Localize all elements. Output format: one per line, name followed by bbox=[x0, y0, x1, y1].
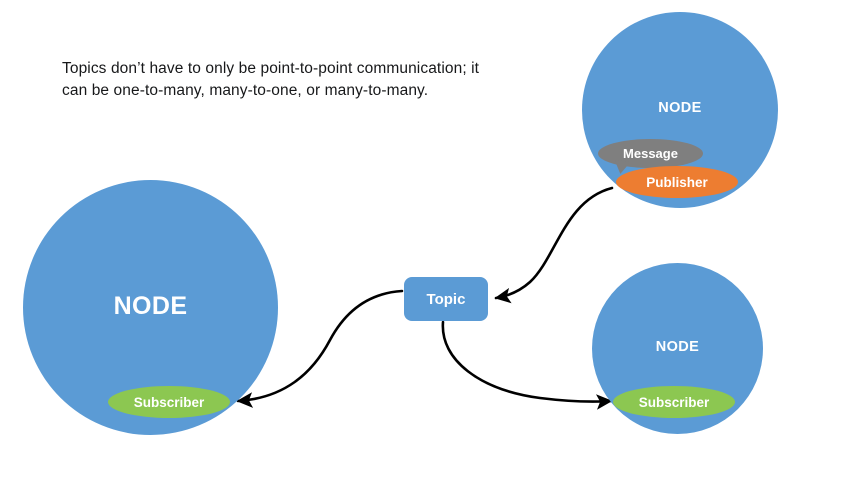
subscriber-right-label: Subscriber bbox=[639, 395, 710, 410]
arrow-publisher-to-topic bbox=[496, 188, 612, 298]
topic-label: Topic bbox=[427, 291, 466, 308]
arrow-topic-to-right-subscriber bbox=[443, 322, 611, 402]
node-top-right-label: NODE bbox=[582, 100, 778, 116]
subscriber-left-label: Subscriber bbox=[134, 395, 205, 410]
node-bottom-right-label: NODE bbox=[592, 339, 763, 355]
subscriber-right[interactable]: Subscriber bbox=[613, 386, 735, 418]
slide-canvas: Topics don’t have to only be point-to-po… bbox=[0, 0, 854, 480]
message-label: Message bbox=[623, 146, 678, 161]
caption-text: Topics don’t have to only be point-to-po… bbox=[62, 58, 482, 103]
node-left-label: NODE bbox=[23, 292, 278, 321]
topic-box[interactable]: Topic bbox=[404, 277, 488, 321]
publisher[interactable]: Publisher bbox=[616, 166, 738, 198]
publisher-label: Publisher bbox=[646, 175, 708, 190]
subscriber-left[interactable]: Subscriber bbox=[108, 386, 230, 418]
